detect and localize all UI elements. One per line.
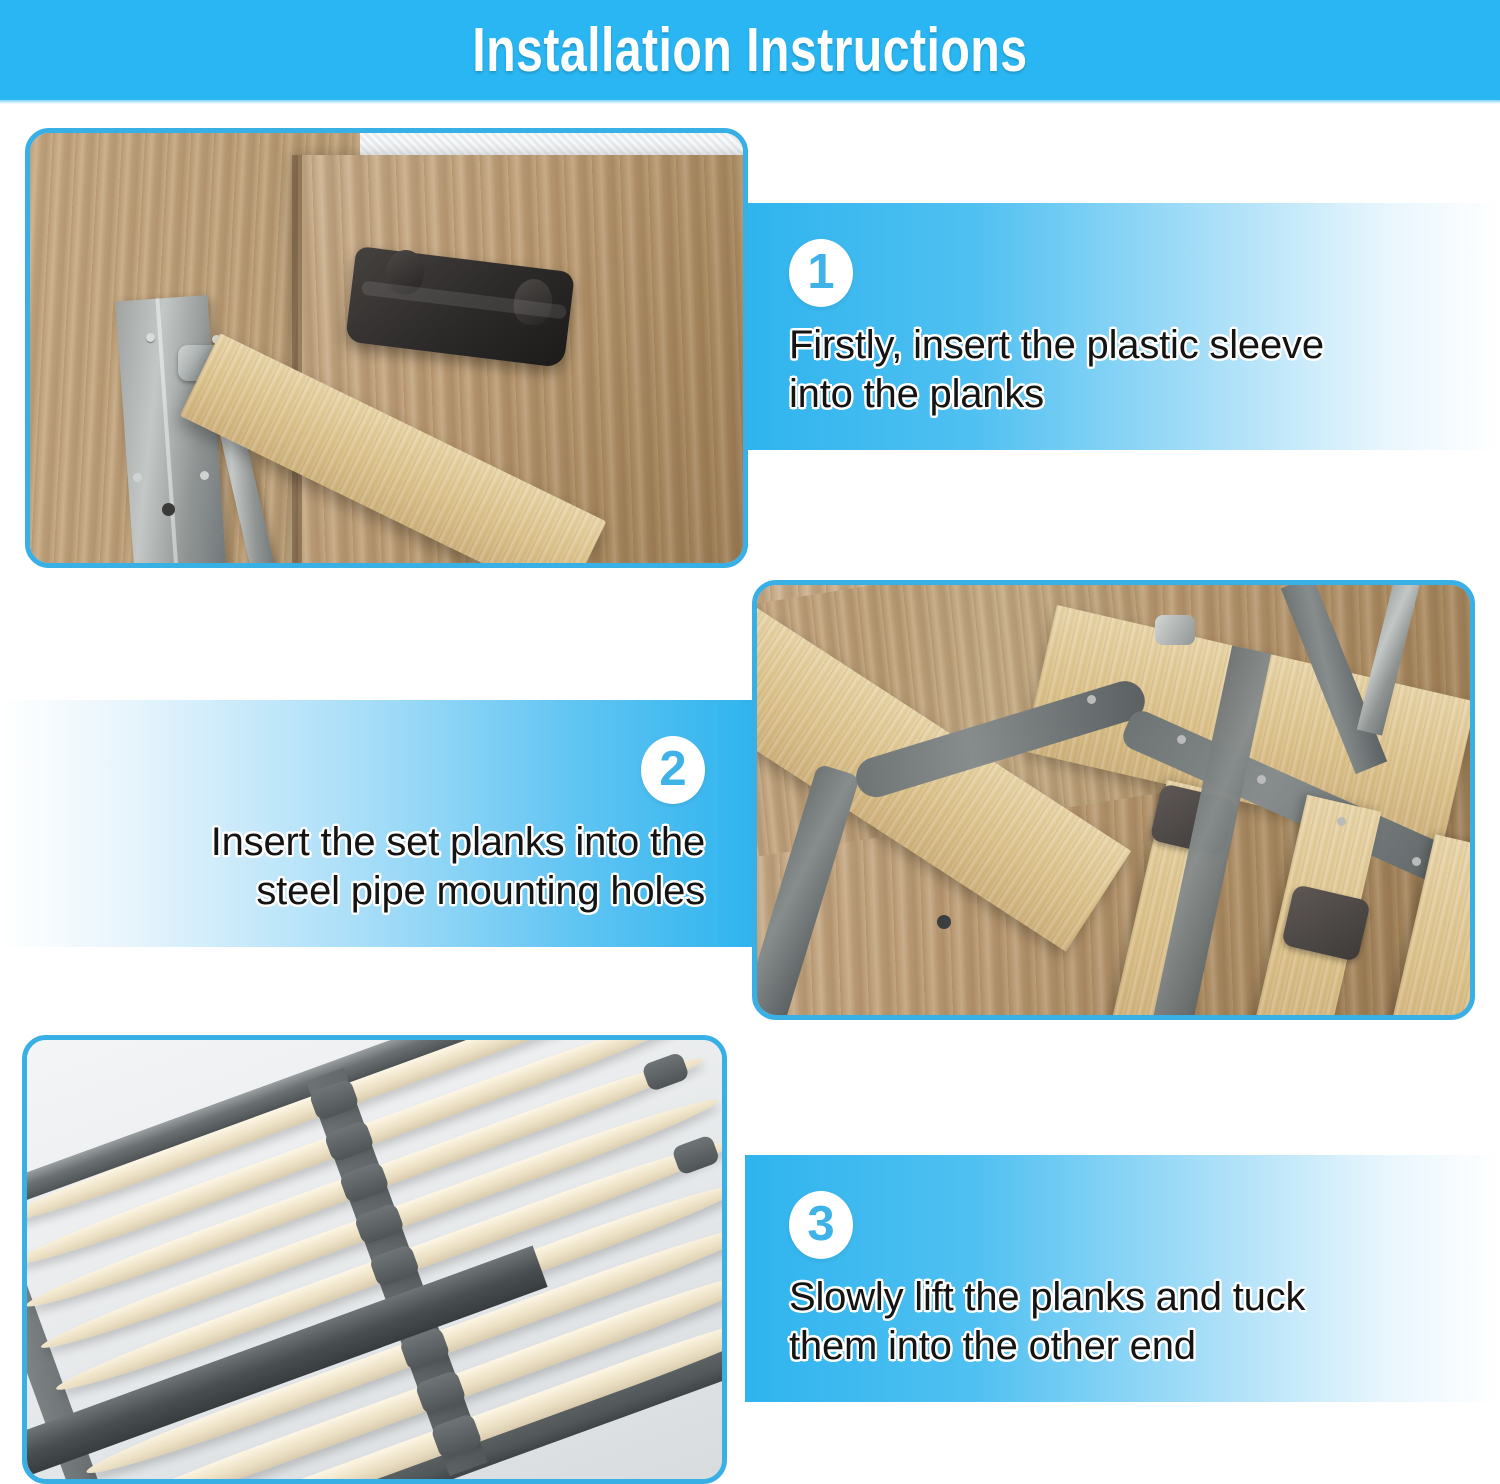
header-underline xyxy=(0,100,1500,104)
step-2-photo xyxy=(752,580,1475,1020)
page-header: Installation Instructions xyxy=(0,0,1500,100)
board-edge-shadow xyxy=(292,155,302,563)
step-3-instruction: Slowly lift the planks and tuck them int… xyxy=(789,1273,1305,1372)
screw-icon xyxy=(1177,735,1186,744)
step-3-badge: 3 xyxy=(789,1191,853,1259)
screw-icon xyxy=(1337,817,1346,826)
step-3-line-1: Slowly lift the planks and tuck xyxy=(789,1273,1305,1323)
step-3-photo-content xyxy=(27,1040,722,1479)
step-2-instruction: Insert the set planks into the steel pip… xyxy=(211,818,705,917)
screw-icon xyxy=(133,473,142,482)
bracket-hole xyxy=(162,503,175,516)
slat-holder xyxy=(671,1134,720,1176)
step-1-badge: 1 xyxy=(789,239,853,307)
step-1-line-2: into the planks xyxy=(789,370,1324,420)
slat-holder xyxy=(641,1051,690,1092)
step-2-line-1: Insert the set planks into the xyxy=(211,818,705,868)
step-2-text-panel: 2 Insert the set planks into the steel p… xyxy=(0,700,755,947)
screw-icon xyxy=(1412,857,1421,866)
step-2-line-2: steel pipe mounting holes xyxy=(211,867,705,917)
step-2-badge: 2 xyxy=(641,736,705,804)
pivot-joint xyxy=(1155,615,1195,645)
step-1-text-panel: 1 Firstly, insert the plastic sleeve int… xyxy=(745,203,1500,450)
screw-icon xyxy=(1257,775,1266,784)
step-1-photo xyxy=(25,128,748,568)
step-1-line-1: Firstly, insert the plastic sleeve xyxy=(789,321,1324,371)
step-3-photo xyxy=(22,1035,727,1484)
step-3-line-2: them into the other end xyxy=(789,1322,1305,1372)
step-2-photo-content xyxy=(757,585,1470,1015)
screw-icon xyxy=(146,333,155,342)
page-title: Installation Instructions xyxy=(472,15,1027,86)
screw-icon xyxy=(200,471,209,480)
step-3-text-panel: 3 Slowly lift the planks and tuck them i… xyxy=(745,1155,1500,1402)
step-1-instruction: Firstly, insert the plastic sleeve into … xyxy=(789,321,1324,420)
mounting-hole xyxy=(937,915,951,929)
screw-icon xyxy=(1087,695,1096,704)
step-1-photo-content xyxy=(30,133,743,563)
